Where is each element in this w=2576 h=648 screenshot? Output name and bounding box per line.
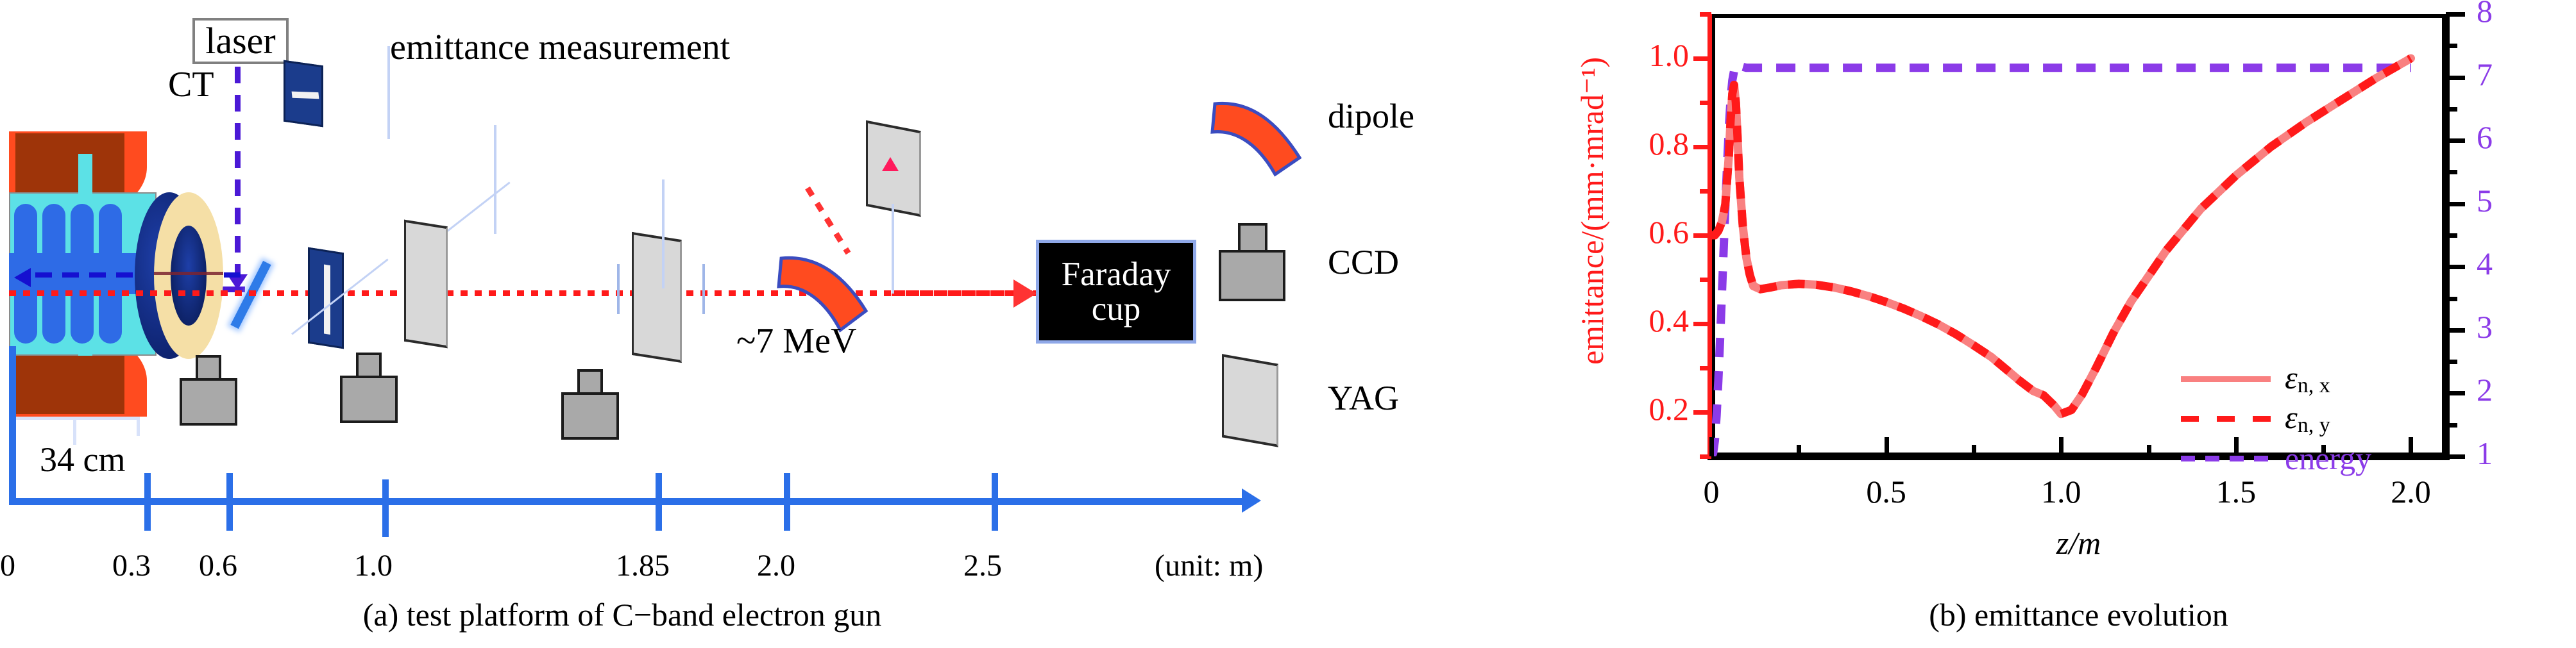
chart-left-tick-minor bbox=[1700, 12, 1711, 17]
legend-ccd-lens-icon bbox=[1238, 223, 1267, 254]
chart-bottom-tick-minor bbox=[1797, 445, 1801, 456]
legend-swatch-emittance-x bbox=[2181, 376, 2271, 382]
emittance-measurement-label: emittance measurement bbox=[390, 27, 730, 68]
beam-energy-label: ~7 MeV bbox=[736, 320, 856, 361]
legend-dipole-label: dipole bbox=[1328, 96, 1414, 136]
ruler-tick-2.5 bbox=[992, 473, 998, 531]
beam-arrow-into-faraday bbox=[1013, 279, 1037, 308]
ruler-label-2.0: 2.0 bbox=[757, 548, 795, 583]
chart-right-tick-label: 4 bbox=[2477, 245, 2493, 282]
chart-bottom-tick-label: 2.0 bbox=[2359, 473, 2462, 510]
chart-right-tick-minor bbox=[2446, 360, 2457, 364]
chart-bottom-tick-major bbox=[1709, 437, 1714, 456]
solenoid-ring-bore bbox=[171, 226, 207, 326]
chart-right-tick-minor bbox=[2446, 170, 2457, 174]
gun-length-label: 34 cm bbox=[40, 440, 125, 479]
spectrometer-leader-line bbox=[892, 204, 894, 294]
panel-b-emittance-chart: 0.20.40.60.81.0 12345678 00.51.01.52.0 e… bbox=[1539, 0, 2576, 648]
ccd-1-body bbox=[180, 378, 237, 426]
legend-ccd-label: CCD bbox=[1328, 242, 1399, 282]
ruler-tick-2.0 bbox=[784, 473, 790, 531]
chart-right-tick-major bbox=[2446, 138, 2465, 143]
solenoid-yoke-bottom bbox=[15, 346, 124, 414]
chart-right-tick-label: 3 bbox=[2477, 308, 2493, 345]
chart-right-tick-label: 1 bbox=[2477, 435, 2493, 472]
gun-length-bracket-right bbox=[137, 417, 140, 436]
ruler-label-2.5: 2.5 bbox=[963, 548, 1002, 583]
ruler-tick-1.85 bbox=[656, 473, 662, 531]
chart-right-tick-label: 6 bbox=[2477, 119, 2493, 156]
chart-left-tick-major bbox=[1693, 145, 1711, 149]
chart-right-tick-label: 8 bbox=[2477, 0, 2493, 29]
chart-x-axis-title: z/m bbox=[1711, 524, 2446, 561]
ruler-label-0.6: 0.6 bbox=[199, 548, 237, 583]
chart-left-tick-major bbox=[1693, 322, 1711, 326]
yag-screen-1 bbox=[404, 220, 448, 349]
chart-right-tick-minor bbox=[2446, 233, 2457, 238]
chart-bottom-tick-major bbox=[1885, 437, 1889, 456]
ruler-unit-label: (unit: m) bbox=[1155, 548, 1263, 583]
cavity-field-arrow-head bbox=[14, 268, 31, 287]
legend-dipole-icon bbox=[1206, 77, 1315, 179]
panel-a-caption: (a) test platform of C−band electron gun bbox=[141, 596, 1103, 633]
chart-right-tick-major bbox=[2446, 265, 2465, 269]
legend-yag-label: YAG bbox=[1328, 378, 1399, 418]
chart-y-axis-title: emittance/(mm·mrad⁻¹) bbox=[1573, 0, 1611, 435]
chart-bottom-tick-minor bbox=[2147, 445, 2151, 456]
ct-label: CT bbox=[168, 64, 214, 105]
faraday-cup-line2: cup bbox=[1092, 292, 1141, 326]
chart-right-tick-major bbox=[2446, 202, 2465, 206]
solenoid-ring-midline bbox=[154, 272, 223, 275]
legend-label-emittance-y: εn, y bbox=[2285, 399, 2330, 438]
chart-right-tick-label: 2 bbox=[2477, 371, 2493, 408]
legend-label-emittance-x: εn, x bbox=[2285, 359, 2330, 398]
faraday-cup-line1: Faraday bbox=[1062, 257, 1171, 292]
chart-right-tick-label: 5 bbox=[2477, 182, 2493, 219]
ruler-label-1.0: 1.0 bbox=[354, 548, 393, 583]
emittance-leader-line-1 bbox=[387, 46, 390, 139]
legend-swatch-energy bbox=[2181, 456, 2271, 461]
chart-left-tick-minor bbox=[1700, 189, 1711, 194]
chart-right-tick-label: 7 bbox=[2477, 56, 2493, 93]
solenoid-yoke-top bbox=[15, 133, 124, 201]
legend-swatch-emittance-y bbox=[2181, 416, 2271, 422]
figure-root: laser CT bbox=[0, 0, 2576, 648]
emittance-leader-line-2 bbox=[494, 125, 496, 234]
chart-left-tick-major bbox=[1693, 56, 1711, 61]
ccd-3-body bbox=[561, 392, 619, 440]
chart-right-tick-major bbox=[2446, 12, 2465, 17]
ruler-vertical-axis bbox=[9, 346, 16, 505]
chart-left-tick-major bbox=[1693, 233, 1711, 238]
ct-plate bbox=[284, 60, 323, 128]
laser-label-box: laser bbox=[192, 18, 289, 64]
chart-left-tick-minor bbox=[1700, 366, 1711, 370]
chart-left-tick-major bbox=[1693, 410, 1711, 415]
legend-item-emittance-y: εn, y bbox=[2181, 399, 2437, 438]
chart-right-tick-minor bbox=[2446, 297, 2457, 301]
yag2-leader-line bbox=[662, 179, 665, 288]
faraday-cup: Faraday cup bbox=[1036, 240, 1196, 344]
chart-right-tick-major bbox=[2446, 391, 2465, 395]
chart-left-tick-minor bbox=[1700, 101, 1711, 105]
ct-plate-slit bbox=[292, 92, 319, 99]
panel-a-test-platform: laser CT bbox=[0, 0, 1507, 648]
yag-screen-2 bbox=[632, 232, 682, 363]
beam-aperture-right bbox=[702, 264, 705, 314]
chart-bottom-tick-minor bbox=[1972, 445, 1976, 456]
laser-label: laser bbox=[205, 22, 276, 60]
chart-bottom-tick-label: 1.5 bbox=[2185, 473, 2287, 510]
chart-legend: εn, x εn, y energy bbox=[2181, 359, 2437, 478]
legend-ccd-body-icon bbox=[1219, 250, 1285, 301]
chart-bottom-tick-label: 0 bbox=[1660, 473, 1763, 510]
ruler-label-0.3: 0.3 bbox=[112, 548, 151, 583]
legend-label-energy: energy bbox=[2285, 440, 2371, 477]
ruler-label-0: 0 bbox=[0, 548, 15, 583]
ruler-tick-0.3 bbox=[144, 473, 151, 531]
ccd-2-body bbox=[340, 376, 398, 423]
chart-right-tick-major bbox=[2446, 454, 2465, 459]
chart-right-tick-minor bbox=[2446, 107, 2457, 112]
laser-beam-dashed bbox=[235, 67, 241, 278]
ruler-tick-0.6 bbox=[226, 473, 233, 531]
chart-left-tick-minor bbox=[1700, 278, 1711, 282]
slit-plate-slit bbox=[324, 265, 330, 335]
ruler-arrow-head bbox=[1242, 488, 1261, 513]
chart-bottom-tick-label: 0.5 bbox=[1835, 473, 1938, 510]
legend-yag-icon bbox=[1222, 354, 1278, 447]
chart-right-tick-minor bbox=[2446, 423, 2457, 428]
chart-bottom-tick-major bbox=[2059, 437, 2063, 456]
ruler-horizontal-axis bbox=[9, 498, 1247, 505]
beam-aperture-left bbox=[617, 264, 620, 314]
spectrometer-beam-spot bbox=[882, 157, 899, 171]
chart-right-tick-major bbox=[2446, 328, 2465, 333]
legend-item-energy: energy bbox=[2181, 438, 2437, 478]
chart-bottom-tick-label: 1.0 bbox=[2010, 473, 2112, 510]
legend-item-emittance-x: εn, x bbox=[2181, 359, 2437, 399]
chart-right-tick-minor bbox=[2446, 44, 2457, 48]
chart-right-tick-major bbox=[2446, 76, 2465, 80]
ruler-tick-1.0 bbox=[382, 479, 389, 537]
panel-b-caption: (b) emittance evolution bbox=[1711, 596, 2446, 633]
ruler-label-1.85: 1.85 bbox=[616, 548, 670, 583]
